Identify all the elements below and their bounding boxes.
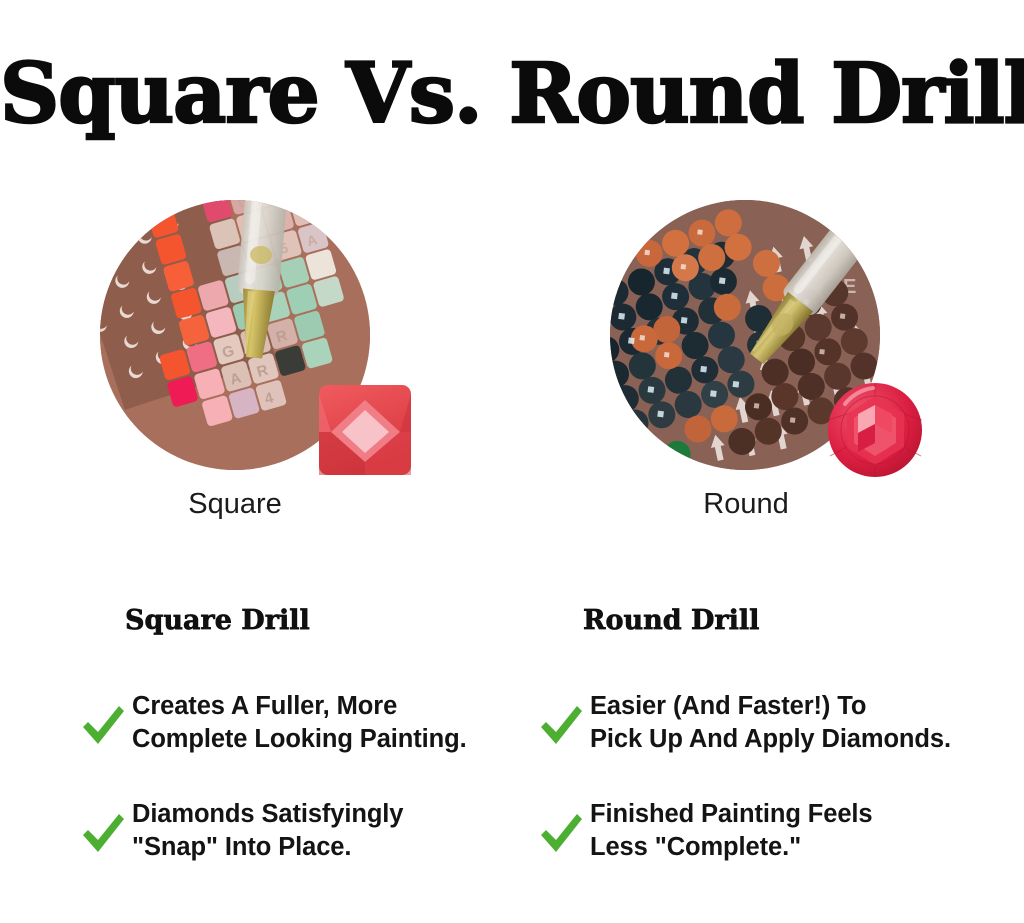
benefit-text: Diamonds Satisfyingly "Snap" Into Place.: [132, 798, 403, 864]
page-title: Square Vs. Round Drill: [0, 44, 1024, 144]
check-icon: [80, 810, 126, 858]
check-icon: [538, 810, 584, 858]
square-gem: [319, 385, 411, 475]
round-gem: [828, 383, 922, 477]
benefit-text: Finished Painting Feels Less "Complete.": [590, 798, 873, 864]
square-drill-photo-svg: G A A R R 4: [100, 200, 440, 485]
caption-round: Round: [576, 486, 916, 522]
caption-square: Square: [65, 486, 405, 522]
benefit-item: Finished Painting Feels Less "Complete.": [538, 798, 978, 864]
benefit-text: Easier (And Faster!) To Pick Up And Appl…: [590, 690, 951, 756]
benefit-text: Creates A Fuller, More Complete Looking …: [132, 690, 467, 756]
column-square-drill: Square Drill Creates A Fuller, More Comp…: [80, 604, 520, 906]
photo-round-drill: E F: [610, 200, 950, 485]
round-drill-photo-svg: E F: [610, 200, 950, 485]
heading-round-drill: Round Drill: [583, 604, 978, 638]
column-round-drill: Round Drill Easier (And Faster!) To Pick…: [538, 604, 978, 906]
check-icon: [80, 702, 126, 750]
photo-square-drill: G A A R R 4: [100, 200, 440, 485]
benefit-item: Easier (And Faster!) To Pick Up And Appl…: [538, 690, 978, 756]
check-icon: [538, 702, 584, 750]
benefit-item: Creates A Fuller, More Complete Looking …: [80, 690, 520, 756]
benefit-item: Diamonds Satisfyingly "Snap" Into Place.: [80, 798, 520, 864]
heading-square-drill: Square Drill: [125, 604, 520, 638]
